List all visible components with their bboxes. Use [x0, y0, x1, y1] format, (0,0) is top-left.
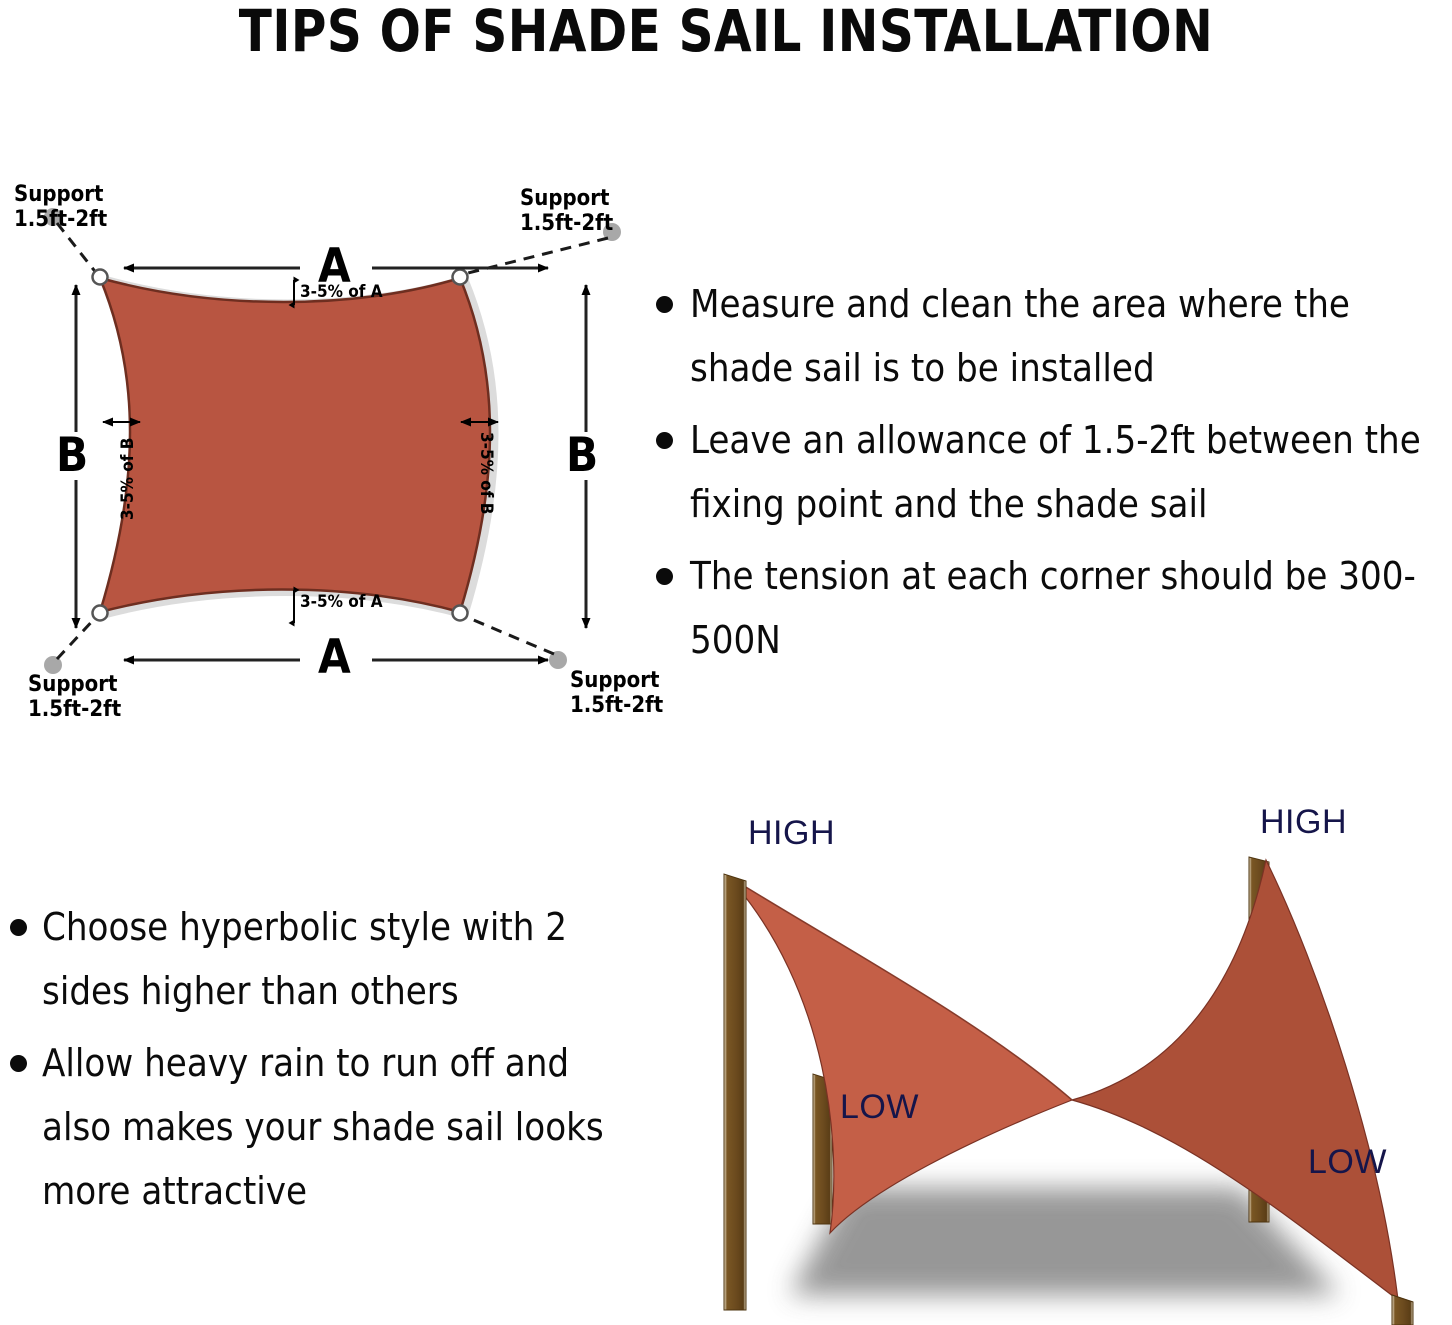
- bullet-dot-icon: [10, 1055, 27, 1072]
- tips-secondary-list: Choose hyperbolic style with 2 sides hig…: [0, 895, 630, 1231]
- grommet-bottom-left: [93, 606, 108, 621]
- curve-label-a-bottom: 3-5% of A: [300, 594, 383, 611]
- support-label-bottom-left: Support 1.5ft-2ft: [28, 672, 121, 722]
- support-label-top-left: Support 1.5ft-2ft: [14, 182, 107, 232]
- curve-label-b-right: 3-5% of B: [477, 432, 494, 514]
- bullet-dot-icon: [656, 296, 673, 313]
- tip-text: Choose hyperbolic style with 2 sides hig…: [42, 895, 630, 1023]
- label-post-low-left: LOW: [840, 1090, 919, 1124]
- dimension-letter-b-left: B: [56, 432, 88, 479]
- grommet-bottom-right: [453, 606, 468, 621]
- grommet-top-right: [453, 270, 468, 285]
- tips-primary-list: Measure and clean the area where the sha…: [648, 272, 1452, 680]
- label-post-high-right: HIGH: [1260, 805, 1347, 839]
- dimension-letter-b-right: B: [566, 432, 598, 479]
- tip-text: Allow heavy rain to run off and also mak…: [42, 1031, 630, 1223]
- bullet-dot-icon: [656, 432, 673, 449]
- curve-label-b-left: 3-5% of B: [120, 438, 137, 520]
- list-item: Measure and clean the area where the sha…: [648, 272, 1452, 400]
- list-item: Choose hyperbolic style with 2 sides hig…: [0, 895, 630, 1023]
- shade-sail-body: [100, 278, 490, 612]
- label-post-high-left: HIGH: [748, 816, 835, 850]
- support-label-top-right: Support 1.5ft-2ft: [520, 186, 613, 236]
- grommet-top-left: [93, 270, 108, 285]
- tip-text: Leave an allowance of 1.5-2ft between th…: [690, 408, 1452, 536]
- list-item: The tension at each corner should be 300…: [648, 544, 1452, 672]
- infographic-page: TIPS OF SHADE SAIL INSTALLATION: [0, 0, 1452, 1325]
- tip-text: Measure and clean the area where the sha…: [690, 272, 1452, 400]
- curve-label-a-top: 3-5% of A: [300, 284, 383, 301]
- list-item: Allow heavy rain to run off and also mak…: [0, 1031, 630, 1223]
- hyperbolic-sail-drawing: [680, 790, 1452, 1325]
- dimension-letter-a-bottom: A: [318, 634, 351, 681]
- post-high-left: [724, 874, 746, 1310]
- bullet-dot-icon: [656, 568, 673, 585]
- tip-text: The tension at each corner should be 300…: [690, 544, 1452, 672]
- bullet-dot-icon: [10, 919, 27, 936]
- label-post-low-right: LOW: [1308, 1145, 1387, 1179]
- sail-lobe-left: [728, 876, 1072, 1233]
- support-cable-bottom-right: [464, 616, 554, 654]
- hyperbolic-sail-diagram: HIGH HIGH LOW LOW: [680, 790, 1452, 1325]
- page-title: TIPS OF SHADE SAIL INSTALLATION: [51, 0, 1401, 62]
- rect-sail-diagram: Support 1.5ft-2ft Support 1.5ft-2ft Supp…: [0, 160, 660, 740]
- post-low-right: [1392, 1295, 1413, 1325]
- list-item: Leave an allowance of 1.5-2ft between th…: [648, 408, 1452, 536]
